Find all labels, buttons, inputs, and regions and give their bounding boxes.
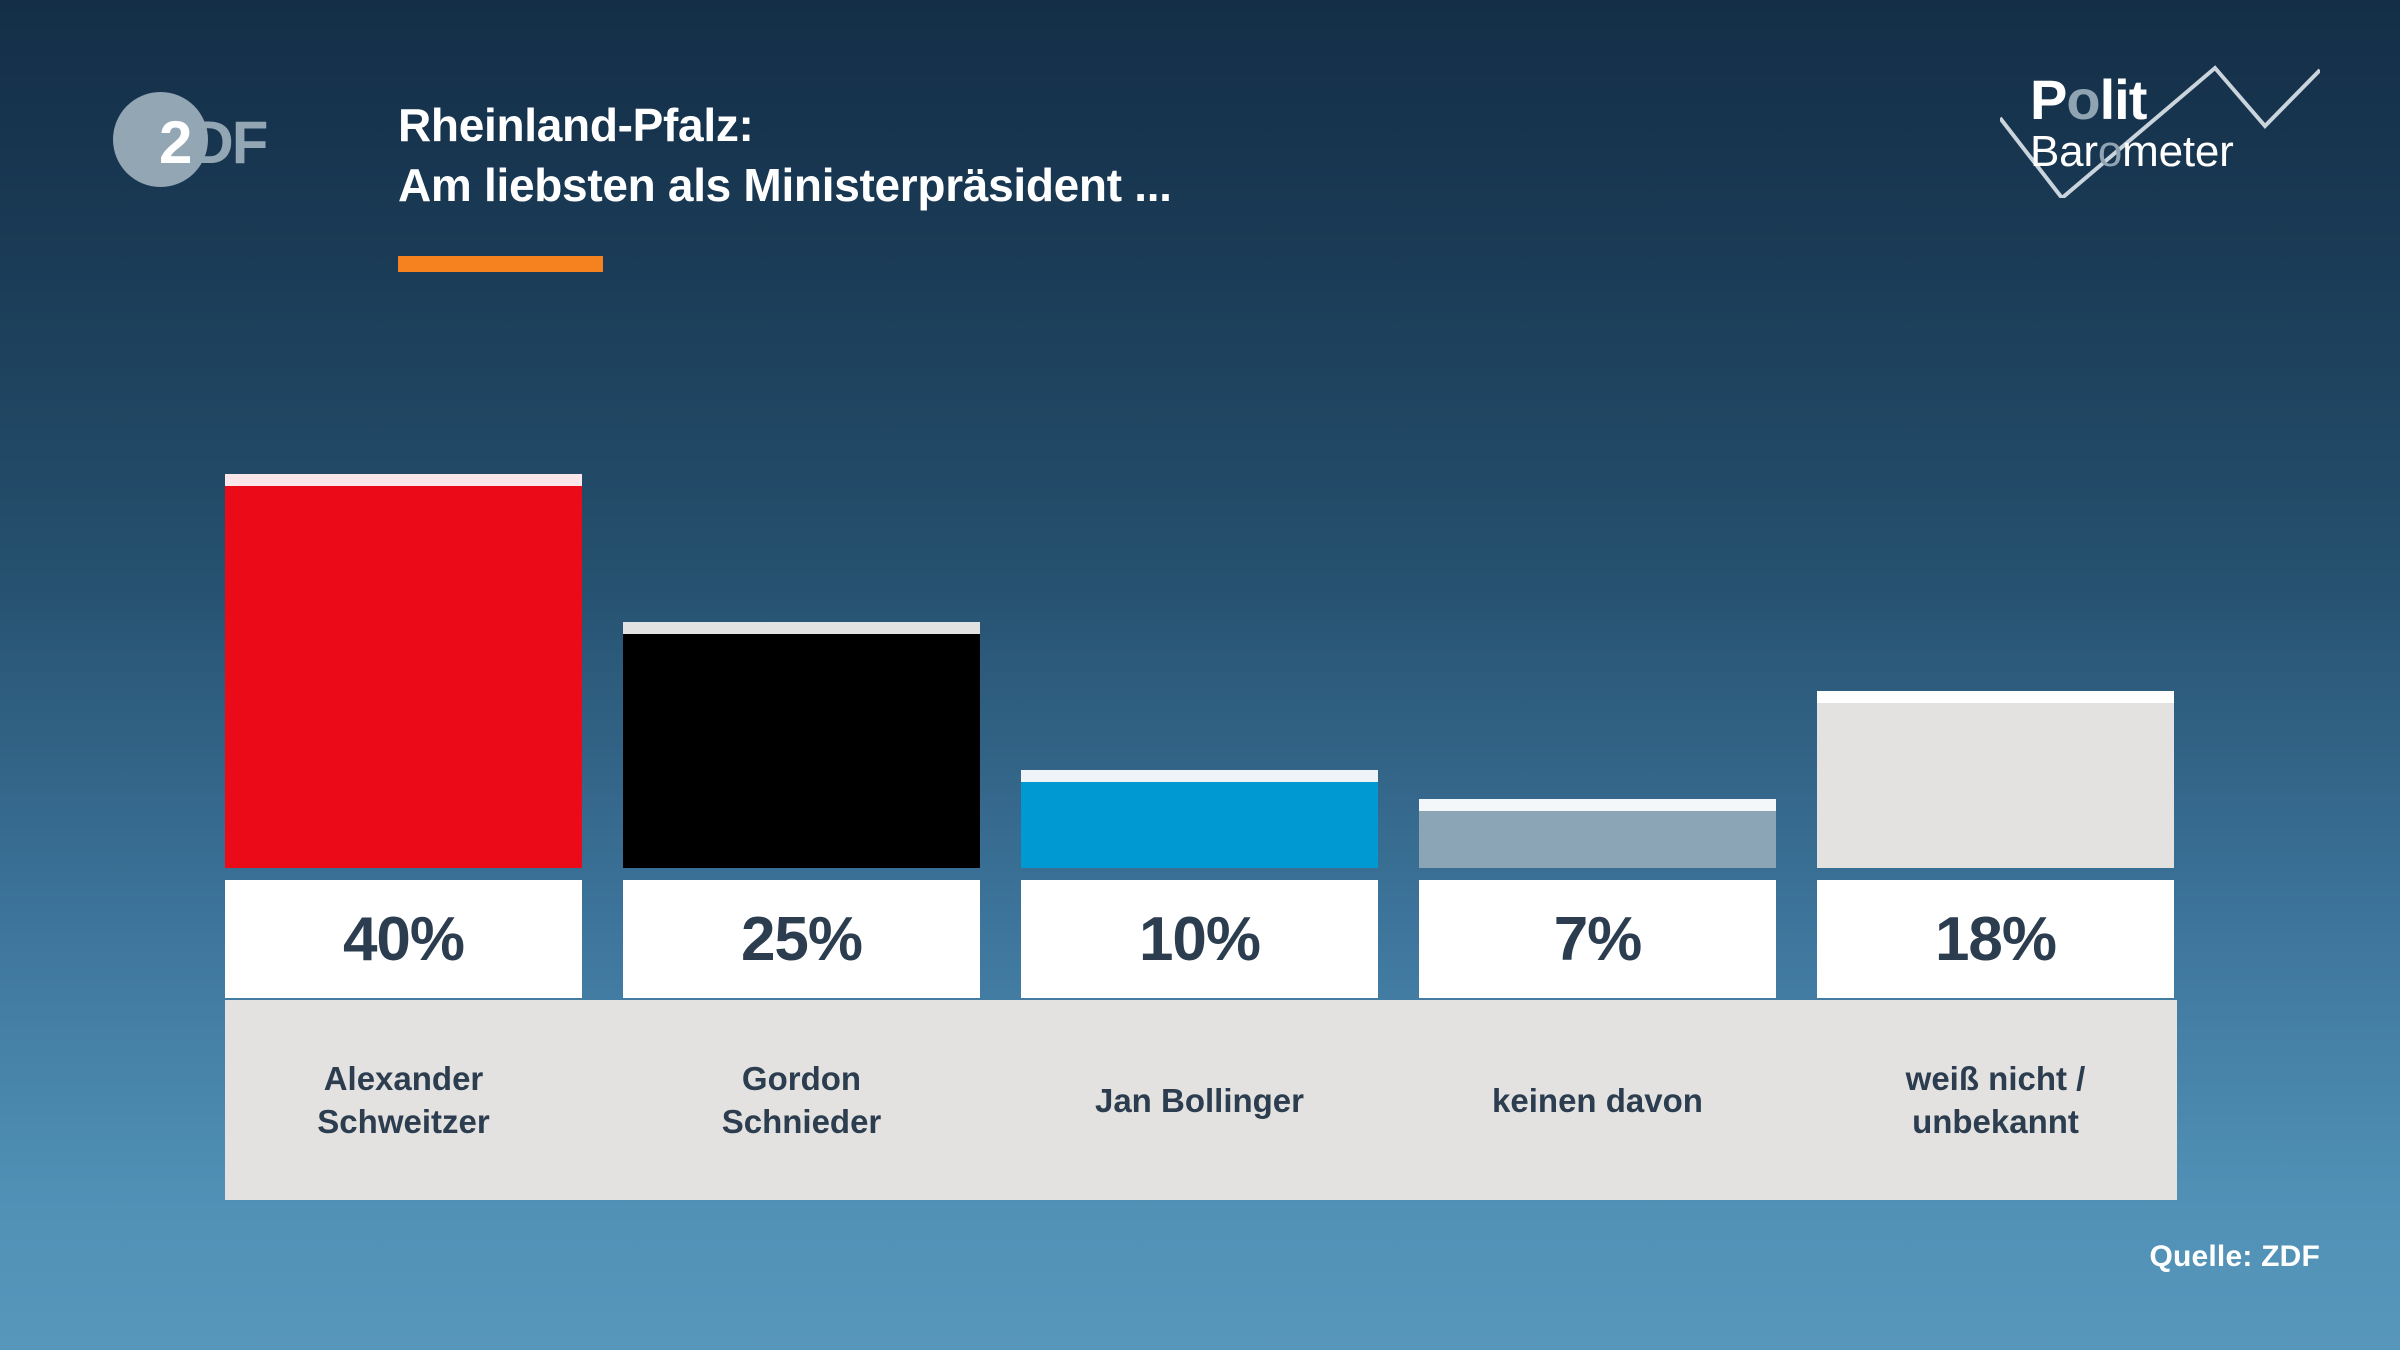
pb-polit-pre: P (2030, 68, 2066, 131)
politbarometer-polit: Polit (2030, 72, 2234, 128)
bar-cap (1817, 691, 2174, 703)
bar-column: 10%Jan Bollinger (1021, 435, 1378, 1200)
title-line-2: Am liebsten als Ministerpräsident ... (398, 155, 1698, 215)
category-label: keinen davon (1492, 1079, 1703, 1122)
value-label: 25% (741, 904, 862, 975)
page-title: Rheinland-Pfalz: Am liebsten als Ministe… (398, 95, 1698, 215)
bar (1419, 799, 1776, 868)
title-accent-rule (398, 256, 603, 272)
politbarometer-wordmark: Polit Barometer (2030, 72, 2234, 174)
value-box: 7% (1419, 880, 1776, 998)
politbarometer-chart-graphic: 2DF Rheinland-Pfalz: Am liebsten als Min… (0, 0, 2400, 1350)
title-line-1: Rheinland-Pfalz: (398, 95, 1698, 155)
bar-column: 25%GordonSchnieder (623, 435, 980, 1200)
category-label-cell: AlexanderSchweitzer (225, 1000, 582, 1200)
category-label-line-2: Schweitzer (317, 1100, 489, 1143)
bar-chart: 40%AlexanderSchweitzer25%GordonSchnieder… (225, 435, 2177, 1200)
category-label-cell: Jan Bollinger (1021, 1000, 1378, 1200)
category-label: AlexanderSchweitzer (317, 1057, 489, 1143)
zdf-logo-2: 2 (159, 109, 190, 176)
bar-zone (1419, 435, 1776, 868)
bar-column: 18%weiß nicht /unbekannt (1817, 435, 2174, 1200)
bar (1817, 691, 2174, 868)
zdf-logo: 2DF (113, 92, 303, 182)
pb-polit-post: lit (2100, 68, 2147, 131)
category-label-line-2: unbekannt (1906, 1100, 2086, 1143)
bar-body (623, 634, 980, 868)
value-box: 25% (623, 880, 980, 998)
pb-baro-pre: Bar (2030, 127, 2098, 176)
bar-body (1817, 703, 2174, 868)
category-label-cell: GordonSchnieder (623, 1000, 980, 1200)
bar-cap (623, 622, 980, 634)
zdf-logo-text: 2DF (159, 113, 266, 173)
bar-body (1419, 811, 1776, 868)
bar (225, 474, 582, 868)
bar-column: 40%AlexanderSchweitzer (225, 435, 582, 1200)
category-label-line-1: Alexander (317, 1057, 489, 1100)
value-label: 18% (1935, 904, 2056, 975)
bar-cap (225, 474, 582, 486)
value-box: 10% (1021, 880, 1378, 998)
category-label-line-2: Schnieder (722, 1100, 882, 1143)
politbarometer-logo: Polit Barometer (2000, 58, 2320, 198)
politbarometer-barometer: Barometer (2030, 130, 2234, 174)
bar-cap (1021, 770, 1378, 782)
bar-cap (1419, 799, 1776, 811)
bar-zone (225, 435, 582, 868)
value-label: 10% (1139, 904, 1260, 975)
category-label-line-1: keinen davon (1492, 1079, 1703, 1122)
category-label: Jan Bollinger (1095, 1079, 1304, 1122)
bar-zone (1021, 435, 1378, 868)
source-note: Quelle: ZDF (2149, 1240, 2320, 1274)
zdf-logo-df: DF (190, 109, 266, 176)
bar-body (1021, 782, 1378, 868)
category-label-cell: weiß nicht /unbekannt (1817, 1000, 2174, 1200)
pb-baro-post: meter (2122, 127, 2233, 176)
bar-body (225, 486, 582, 868)
bar (1021, 770, 1378, 868)
category-label: GordonSchnieder (722, 1057, 882, 1143)
value-label: 7% (1554, 904, 1642, 975)
category-label-line-1: Jan Bollinger (1095, 1079, 1304, 1122)
bar-zone (623, 435, 980, 868)
category-label-line-1: Gordon (722, 1057, 882, 1100)
category-label: weiß nicht /unbekannt (1906, 1057, 2086, 1143)
value-box: 40% (225, 880, 582, 998)
bar-zone (1817, 435, 2174, 868)
value-label: 40% (343, 904, 464, 975)
pb-polit-o: o (2066, 68, 2099, 131)
bar-column: 7%keinen davon (1419, 435, 1776, 1200)
bar (623, 622, 980, 868)
pb-baro-o: o (2098, 127, 2122, 176)
category-label-line-1: weiß nicht / (1906, 1057, 2086, 1100)
category-label-cell: keinen davon (1419, 1000, 1776, 1200)
value-box: 18% (1817, 880, 2174, 998)
